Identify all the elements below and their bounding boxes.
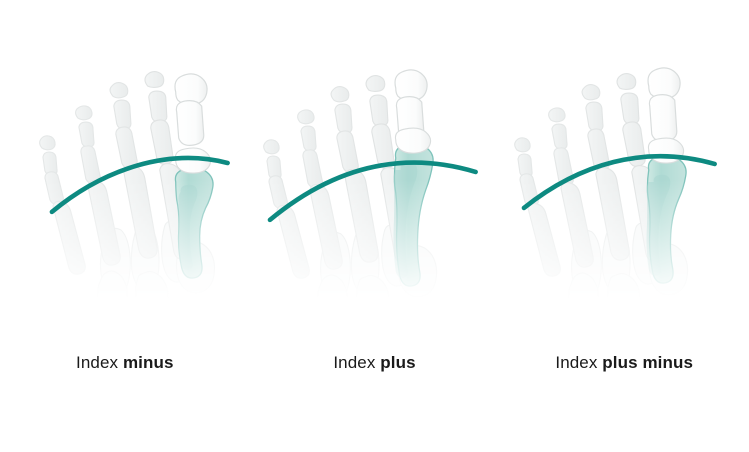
foot-bones-group (515, 68, 688, 300)
foot-bones-group (40, 72, 215, 300)
foot-skeleton-svg (499, 0, 749, 300)
caption-index-plus: Index plus (250, 352, 500, 374)
foot-diagram-index-plus (250, 0, 500, 300)
foot-diagram-index-plus-minus (499, 0, 749, 300)
caption-lead: Index (555, 353, 602, 372)
caption-lead: Index (333, 353, 380, 372)
great-toe-phalanges (648, 68, 680, 142)
foot-index-types-figure: Index minus (0, 0, 749, 452)
caption-emphasis: plus (380, 353, 415, 372)
caption-index-plus-minus: Index plus minus (499, 352, 749, 374)
metatarsal-arc-curve (270, 163, 476, 220)
panel-index-plus: Index plus (250, 0, 500, 452)
caption-index-minus: Index minus (0, 352, 250, 374)
fifth-ray (515, 138, 561, 276)
foot-diagram-index-minus (0, 0, 250, 300)
first-metatarsal-base (395, 128, 430, 153)
caption-emphasis: minus (123, 353, 174, 372)
great-toe-phalanges (175, 74, 207, 146)
caption-emphasis: plus minus (602, 353, 693, 372)
panel-row: Index minus (0, 0, 749, 452)
foot-skeleton-svg (250, 0, 500, 300)
panel-index-plus-minus: Index plus minus (499, 0, 749, 452)
fourth-ray (76, 106, 121, 265)
panel-index-minus: Index minus (0, 0, 250, 452)
caption-lead: Index (76, 353, 123, 372)
foot-skeleton-svg (0, 0, 250, 300)
foot-bones-group (263, 70, 436, 300)
fourth-ray (297, 110, 342, 269)
